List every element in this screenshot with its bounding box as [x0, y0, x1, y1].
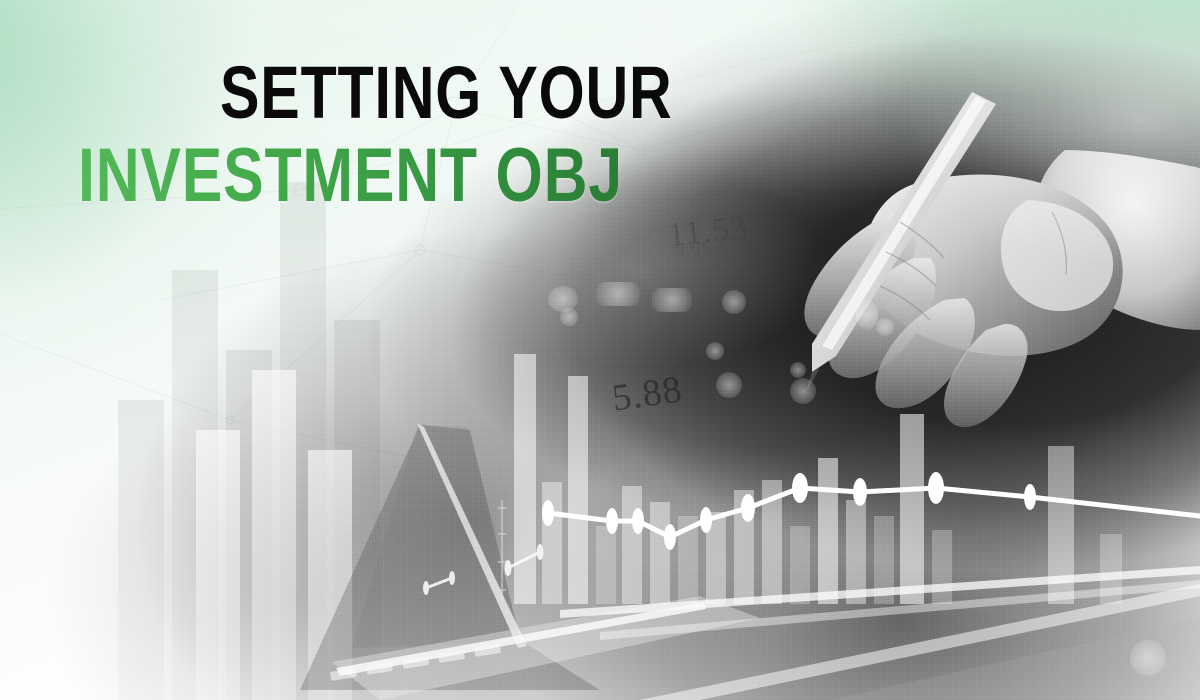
headline-line-1: SETTING YOUR: [220, 58, 652, 128]
headline-block: SETTING YOUR INVESTMENT OBJECTIVES: [0, 0, 760, 211]
investment-objectives-banner: 11.53 5.88 9.06 SETTING YOUR INVESTMENT …: [0, 0, 1200, 700]
headline-line-2: INVESTMENT OBJECTIVES: [78, 140, 624, 211]
